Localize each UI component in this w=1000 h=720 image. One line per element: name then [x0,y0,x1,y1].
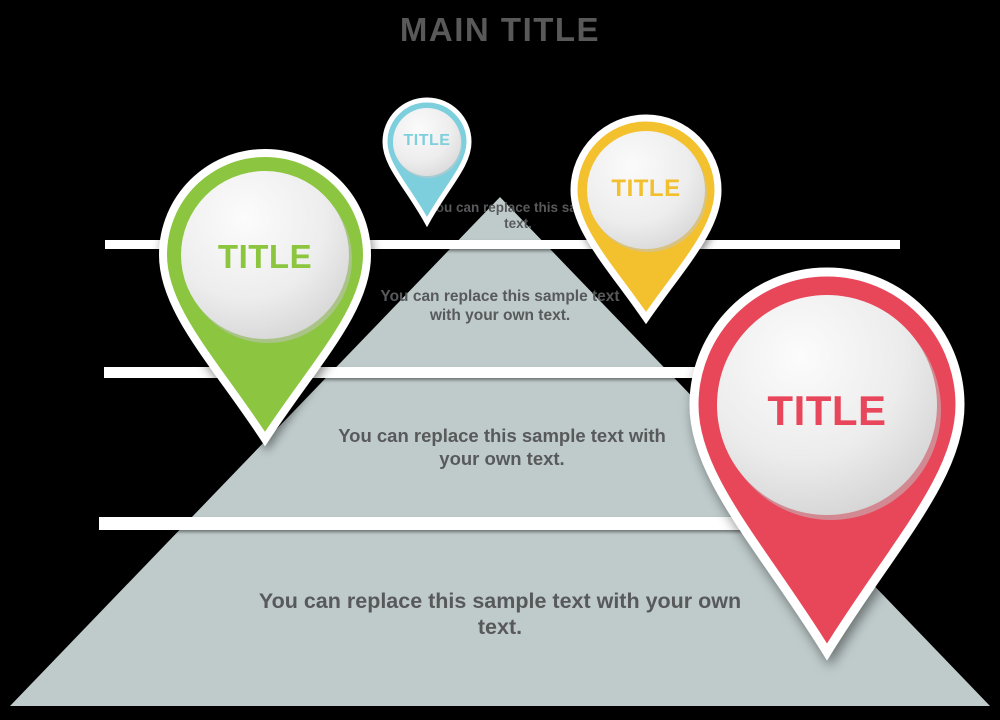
map-pin-icon [156,147,374,447]
map-pin-icon [686,265,968,661]
pin-face [393,108,461,176]
infographic-canvas: MAIN TITLE You can replace this sample t… [0,0,1000,720]
pin-face [587,131,705,249]
pin-face [717,295,937,515]
map-pin-cyan[interactable]: TITLE [381,96,473,236]
tier-4-description: You can replace this sample text with yo… [240,588,760,640]
pin-face [181,171,349,339]
map-pin-green[interactable]: TITLE [156,147,374,447]
tier-3-description: You can replace this sample text with yo… [322,425,682,470]
map-pin-red[interactable]: TITLE [686,265,968,661]
map-pin-icon [381,96,473,236]
